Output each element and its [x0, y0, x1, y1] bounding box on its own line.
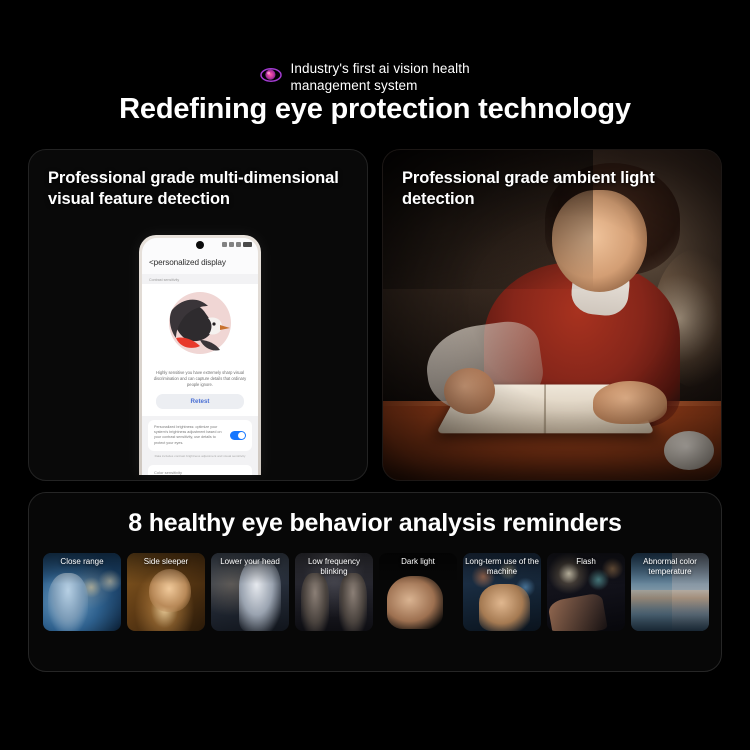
reminder-label: Low frequency blinking	[295, 557, 373, 577]
reminder-lower-your-head[interactable]: Lower your head	[211, 553, 289, 631]
reminder-long-term-use[interactable]: Long-term use of the machine	[463, 553, 541, 631]
reminder-label: Side sleeper	[127, 557, 205, 567]
phone-screen: <personalized display Contrast sensitivi…	[142, 238, 258, 475]
personalized-brightness-row[interactable]: Personalized brightness: optimize your s…	[148, 420, 252, 451]
eye-icon	[260, 64, 282, 86]
brand-badge: Industry's first ai vision health manage…	[0, 60, 750, 94]
phone-nav-title[interactable]: <personalized display	[142, 253, 258, 274]
thumb-figure	[387, 576, 443, 629]
personalized-brightness-text: Personalized brightness: optimize your s…	[154, 425, 225, 446]
cellular-icon	[236, 242, 241, 247]
reminder-label: Abnormal color temperature	[631, 557, 709, 577]
promo-page: Industry's first ai vision health manage…	[0, 0, 750, 750]
toggle-knob	[238, 432, 245, 439]
reminder-label: Close range	[43, 557, 121, 567]
reminder-label: Lower your head	[211, 557, 289, 567]
behavior-reminders-panel: 8 healthy eye behavior analysis reminder…	[28, 492, 722, 672]
page-title: Redefining eye protection technology	[0, 93, 750, 126]
feature-card-row: Professional grade multi-dimensional vis…	[28, 149, 722, 481]
battery-icon	[243, 242, 252, 247]
reminder-dark-light[interactable]: Dark light	[379, 553, 457, 631]
eagle-icon	[164, 294, 236, 356]
reminder-label: Long-term use of the machine	[463, 557, 541, 577]
reminder-abnormal-color-temperature[interactable]: Abnormal color temperature	[631, 553, 709, 631]
retest-button-wrap: Retest	[142, 392, 258, 416]
phone-description: Highly sensitive you have extremely shar…	[142, 366, 258, 392]
reminder-low-frequency-blinking[interactable]: Low frequency blinking	[295, 553, 373, 631]
feature-card-visual-detection[interactable]: Professional grade multi-dimensional vis…	[28, 149, 368, 481]
reminder-thumbnail-row: Close range Side sleeper Lower your head	[43, 553, 709, 631]
phone-section-label: Contrast sensitivity	[142, 274, 258, 284]
reminder-side-sleeper[interactable]: Side sleeper	[127, 553, 205, 631]
status-icons	[222, 242, 252, 247]
phone-status-bar	[142, 238, 258, 253]
card-title-visual-detection: Professional grade multi-dimensional vis…	[48, 168, 367, 210]
camera-punch-hole-icon	[196, 241, 204, 249]
reminder-close-range[interactable]: Close range	[43, 553, 121, 631]
card-title-ambient-light: Professional grade ambient light detecti…	[402, 168, 721, 210]
brand-badge-text: Industry's first ai vision health manage…	[291, 60, 491, 94]
personalized-brightness-toggle[interactable]	[230, 431, 246, 440]
signal-icon	[222, 242, 227, 247]
wifi-icon	[229, 242, 234, 247]
thumb-figure	[479, 584, 530, 631]
reminder-label: Dark light	[379, 557, 457, 567]
reminder-flash[interactable]: Flash	[547, 553, 625, 631]
phone-color-sensitivity-row[interactable]: Color sensitivity	[148, 465, 252, 475]
retest-button[interactable]: Retest	[156, 394, 244, 409]
eagle-illustration	[142, 284, 258, 366]
panel-title: 8 healthy eye behavior analysis reminder…	[29, 509, 721, 538]
phone-fine-note: Data includes contrast brightness adjust…	[142, 451, 258, 462]
feature-card-ambient-light[interactable]: Professional grade ambient light detecti…	[382, 149, 722, 481]
phone-mockup: <personalized display Contrast sensitivi…	[139, 235, 261, 475]
reminder-label: Flash	[547, 557, 625, 567]
